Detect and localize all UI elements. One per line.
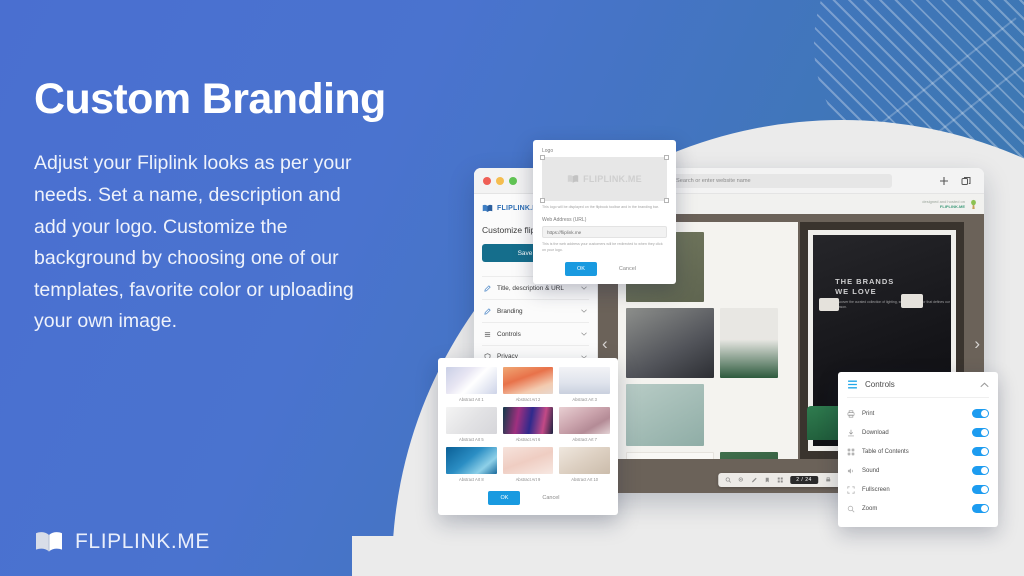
grid-icon — [847, 448, 855, 456]
chevron-down-icon — [581, 332, 587, 336]
page-description: Adjust your Fliplink looks as per your n… — [34, 148, 364, 337]
download-icon — [847, 429, 855, 437]
chevron-down-icon — [581, 286, 587, 290]
toggle-print[interactable] — [972, 409, 989, 418]
resize-handle[interactable] — [664, 155, 669, 160]
template-thumb-9[interactable]: Abstract Art 9 — [503, 447, 554, 482]
plus-icon[interactable] — [939, 176, 949, 186]
viewer-brand-line2: FLIPLINK.ME — [922, 204, 965, 209]
gray-bottom-band — [352, 536, 1024, 576]
logo-settings-modal: Logo FLIPLINK.ME This logo will be displ… — [533, 140, 676, 284]
ok-button[interactable]: OK — [488, 491, 520, 505]
template-thumb-8[interactable]: Abstract Art 8 — [446, 447, 497, 482]
hero-caption: THE BRANDSWE LOVE Discover the curated c… — [835, 277, 951, 309]
toggle-zoom[interactable] — [972, 504, 989, 513]
open-book-icon — [567, 174, 579, 184]
zoom-out-icon[interactable] — [738, 477, 744, 483]
open-book-icon — [482, 204, 493, 213]
template-thumb-label: Abstract Art 8 — [446, 477, 497, 482]
brand-logo: FLIPLINK.ME — [34, 530, 210, 554]
control-label: Sound — [862, 468, 965, 474]
controls-panel-header[interactable]: Controls — [847, 379, 989, 398]
close-icon[interactable] — [483, 177, 491, 185]
page-tile — [626, 452, 714, 459]
page-tile — [720, 308, 778, 378]
chevron-up-icon[interactable] — [980, 382, 989, 388]
control-label: Fullscreen — [862, 487, 965, 493]
print-icon[interactable] — [825, 477, 831, 483]
speaker-icon — [847, 467, 855, 475]
template-thumb-image — [446, 367, 497, 394]
cancel-button[interactable]: Cancel — [611, 262, 644, 276]
logo-hint-text: This logo will be displayed on the flipb… — [542, 205, 667, 210]
template-thumb-label: Abstract Art 2 — [503, 397, 554, 402]
template-grid: Abstract Art 1 Abstract Art 2 Abstract A… — [446, 367, 610, 482]
resize-handle[interactable] — [540, 198, 545, 203]
logo-preview-text: FLIPLINK.ME — [583, 174, 642, 184]
toggle-sound[interactable] — [972, 466, 989, 475]
chevron-left-icon[interactable]: ‹ — [602, 334, 608, 354]
control-label: Print — [862, 411, 965, 417]
url-input-value: https://fliplink.me — [547, 230, 581, 235]
template-thumb-10[interactable]: Abstract Art 10 — [559, 447, 610, 482]
zoom-in-icon[interactable] — [725, 477, 731, 483]
control-label: Table of Contents — [862, 449, 965, 455]
template-picker-modal: Abstract Art 1 Abstract Art 2 Abstract A… — [438, 358, 618, 515]
template-thumb-label: Abstract Art 6 — [503, 437, 554, 442]
open-book-icon — [969, 199, 978, 210]
control-label: Zoom — [862, 506, 965, 512]
sliders-icon — [484, 331, 491, 338]
template-thumb-image — [503, 367, 554, 394]
lamp-shape — [901, 294, 923, 308]
template-thumb-image — [446, 447, 497, 474]
address-bar-placeholder: Search or enter website name — [676, 178, 751, 184]
brand-logo-text: FLIPLINK.ME — [75, 530, 210, 554]
chevron-down-icon — [581, 309, 587, 313]
template-thumb-image — [559, 407, 610, 434]
page-indicator: 2 / 24 — [790, 476, 818, 484]
url-field-label: Web Address (URL) — [542, 217, 667, 223]
expand-icon — [847, 486, 855, 494]
control-label: Download — [862, 430, 965, 436]
template-thumb-image — [503, 407, 554, 434]
template-thumb-1[interactable]: Abstract Art 1 — [446, 367, 497, 402]
template-thumb-label: Abstract Art 10 — [559, 477, 610, 482]
template-modal-actions: OK Cancel — [446, 491, 610, 505]
logo-field-label: Logo — [542, 148, 667, 154]
page-title: Custom Branding — [34, 76, 364, 122]
bookmark-icon[interactable] — [764, 477, 770, 483]
resize-handle[interactable] — [664, 198, 669, 203]
sidebar-item-controls[interactable]: Controls — [482, 322, 589, 345]
hero-subcaption: Discover the curated collection of light… — [835, 300, 951, 309]
striped-circle-decoration — [814, 0, 1024, 184]
template-thumb-image — [503, 447, 554, 474]
sidebar-item-label: Branding — [497, 308, 575, 315]
slide-canvas: Custom Branding Adjust your Fliplink loo… — [0, 0, 1024, 576]
logo-preview-dropzone[interactable]: FLIPLINK.ME — [542, 157, 667, 201]
control-row-fullscreen[interactable]: Fullscreen — [847, 480, 989, 499]
url-hint-text: This is the web address your customers w… — [542, 242, 667, 253]
template-thumb-image — [446, 407, 497, 434]
template-thumb-image — [559, 367, 610, 394]
sliders-icon — [847, 379, 858, 390]
lamp-shape — [819, 298, 839, 311]
template-thumb-7[interactable]: Abstract Art 7 — [559, 407, 610, 442]
template-thumb-5[interactable]: Abstract Art 5 — [446, 407, 497, 442]
control-row-download[interactable]: Download — [847, 423, 989, 442]
template-thumb-label: Abstract Art 5 — [446, 437, 497, 442]
copy-block: Custom Branding Adjust your Fliplink loo… — [34, 76, 364, 338]
template-thumb-6[interactable]: Abstract Art 6 — [503, 407, 554, 442]
pencil-icon — [484, 308, 491, 315]
copy-tabs-icon[interactable] — [961, 176, 971, 186]
grid-icon[interactable] — [777, 477, 783, 483]
template-thumb-2[interactable]: Abstract Art 2 — [503, 367, 554, 402]
page-tile — [626, 384, 704, 446]
minimize-icon[interactable] — [496, 177, 504, 185]
sidebar-item-label: Title, description & URL — [497, 285, 575, 292]
chevron-right-icon[interactable]: › — [974, 334, 980, 354]
control-row-print[interactable]: Print — [847, 404, 989, 423]
page-tile — [626, 308, 714, 378]
template-thumb-image — [559, 447, 610, 474]
control-row-zoom[interactable]: Zoom — [847, 499, 989, 518]
toggle-fullscreen[interactable] — [972, 485, 989, 494]
print-icon — [847, 410, 855, 418]
maximize-icon[interactable] — [509, 177, 517, 185]
open-book-icon — [34, 530, 64, 554]
ok-button[interactable]: OK — [565, 262, 597, 276]
url-input[interactable]: https://fliplink.me — [542, 226, 667, 238]
pencil-icon — [484, 285, 491, 292]
template-thumb-label: Abstract Art 9 — [503, 477, 554, 482]
diagonal-line-decoration — [874, 17, 1017, 129]
viewer-branding: designed and hosted on FLIPLINK.ME — [922, 199, 965, 209]
toggle-download[interactable] — [972, 428, 989, 437]
pen-icon[interactable] — [751, 477, 757, 483]
magnifier-icon — [847, 505, 855, 513]
logo-modal-actions: OK Cancel — [542, 262, 667, 276]
control-row-sound[interactable]: Sound — [847, 461, 989, 480]
template-thumb-label: Abstract Art 7 — [559, 437, 610, 442]
browser-bar-actions — [939, 176, 975, 186]
controls-panel: Controls Print Download — [838, 372, 998, 527]
sidebar-item-label: Controls — [497, 331, 575, 338]
sidebar-item-branding[interactable]: Branding — [482, 299, 589, 322]
diagonal-line-decoration — [914, 58, 1024, 152]
toggle-table-of-contents[interactable] — [972, 447, 989, 456]
template-thumb-label: Abstract Art 3 — [559, 397, 610, 402]
template-thumb-3[interactable]: Abstract Art 3 — [559, 367, 610, 402]
control-row-table-of-contents[interactable]: Table of Contents — [847, 442, 989, 461]
page-tile — [720, 452, 778, 459]
address-bar[interactable]: Search or enter website name — [662, 174, 892, 188]
controls-panel-title: Controls — [865, 380, 973, 389]
template-thumb-label: Abstract Art 1 — [446, 397, 497, 402]
cancel-button[interactable]: Cancel — [534, 491, 567, 505]
resize-handle[interactable] — [540, 155, 545, 160]
